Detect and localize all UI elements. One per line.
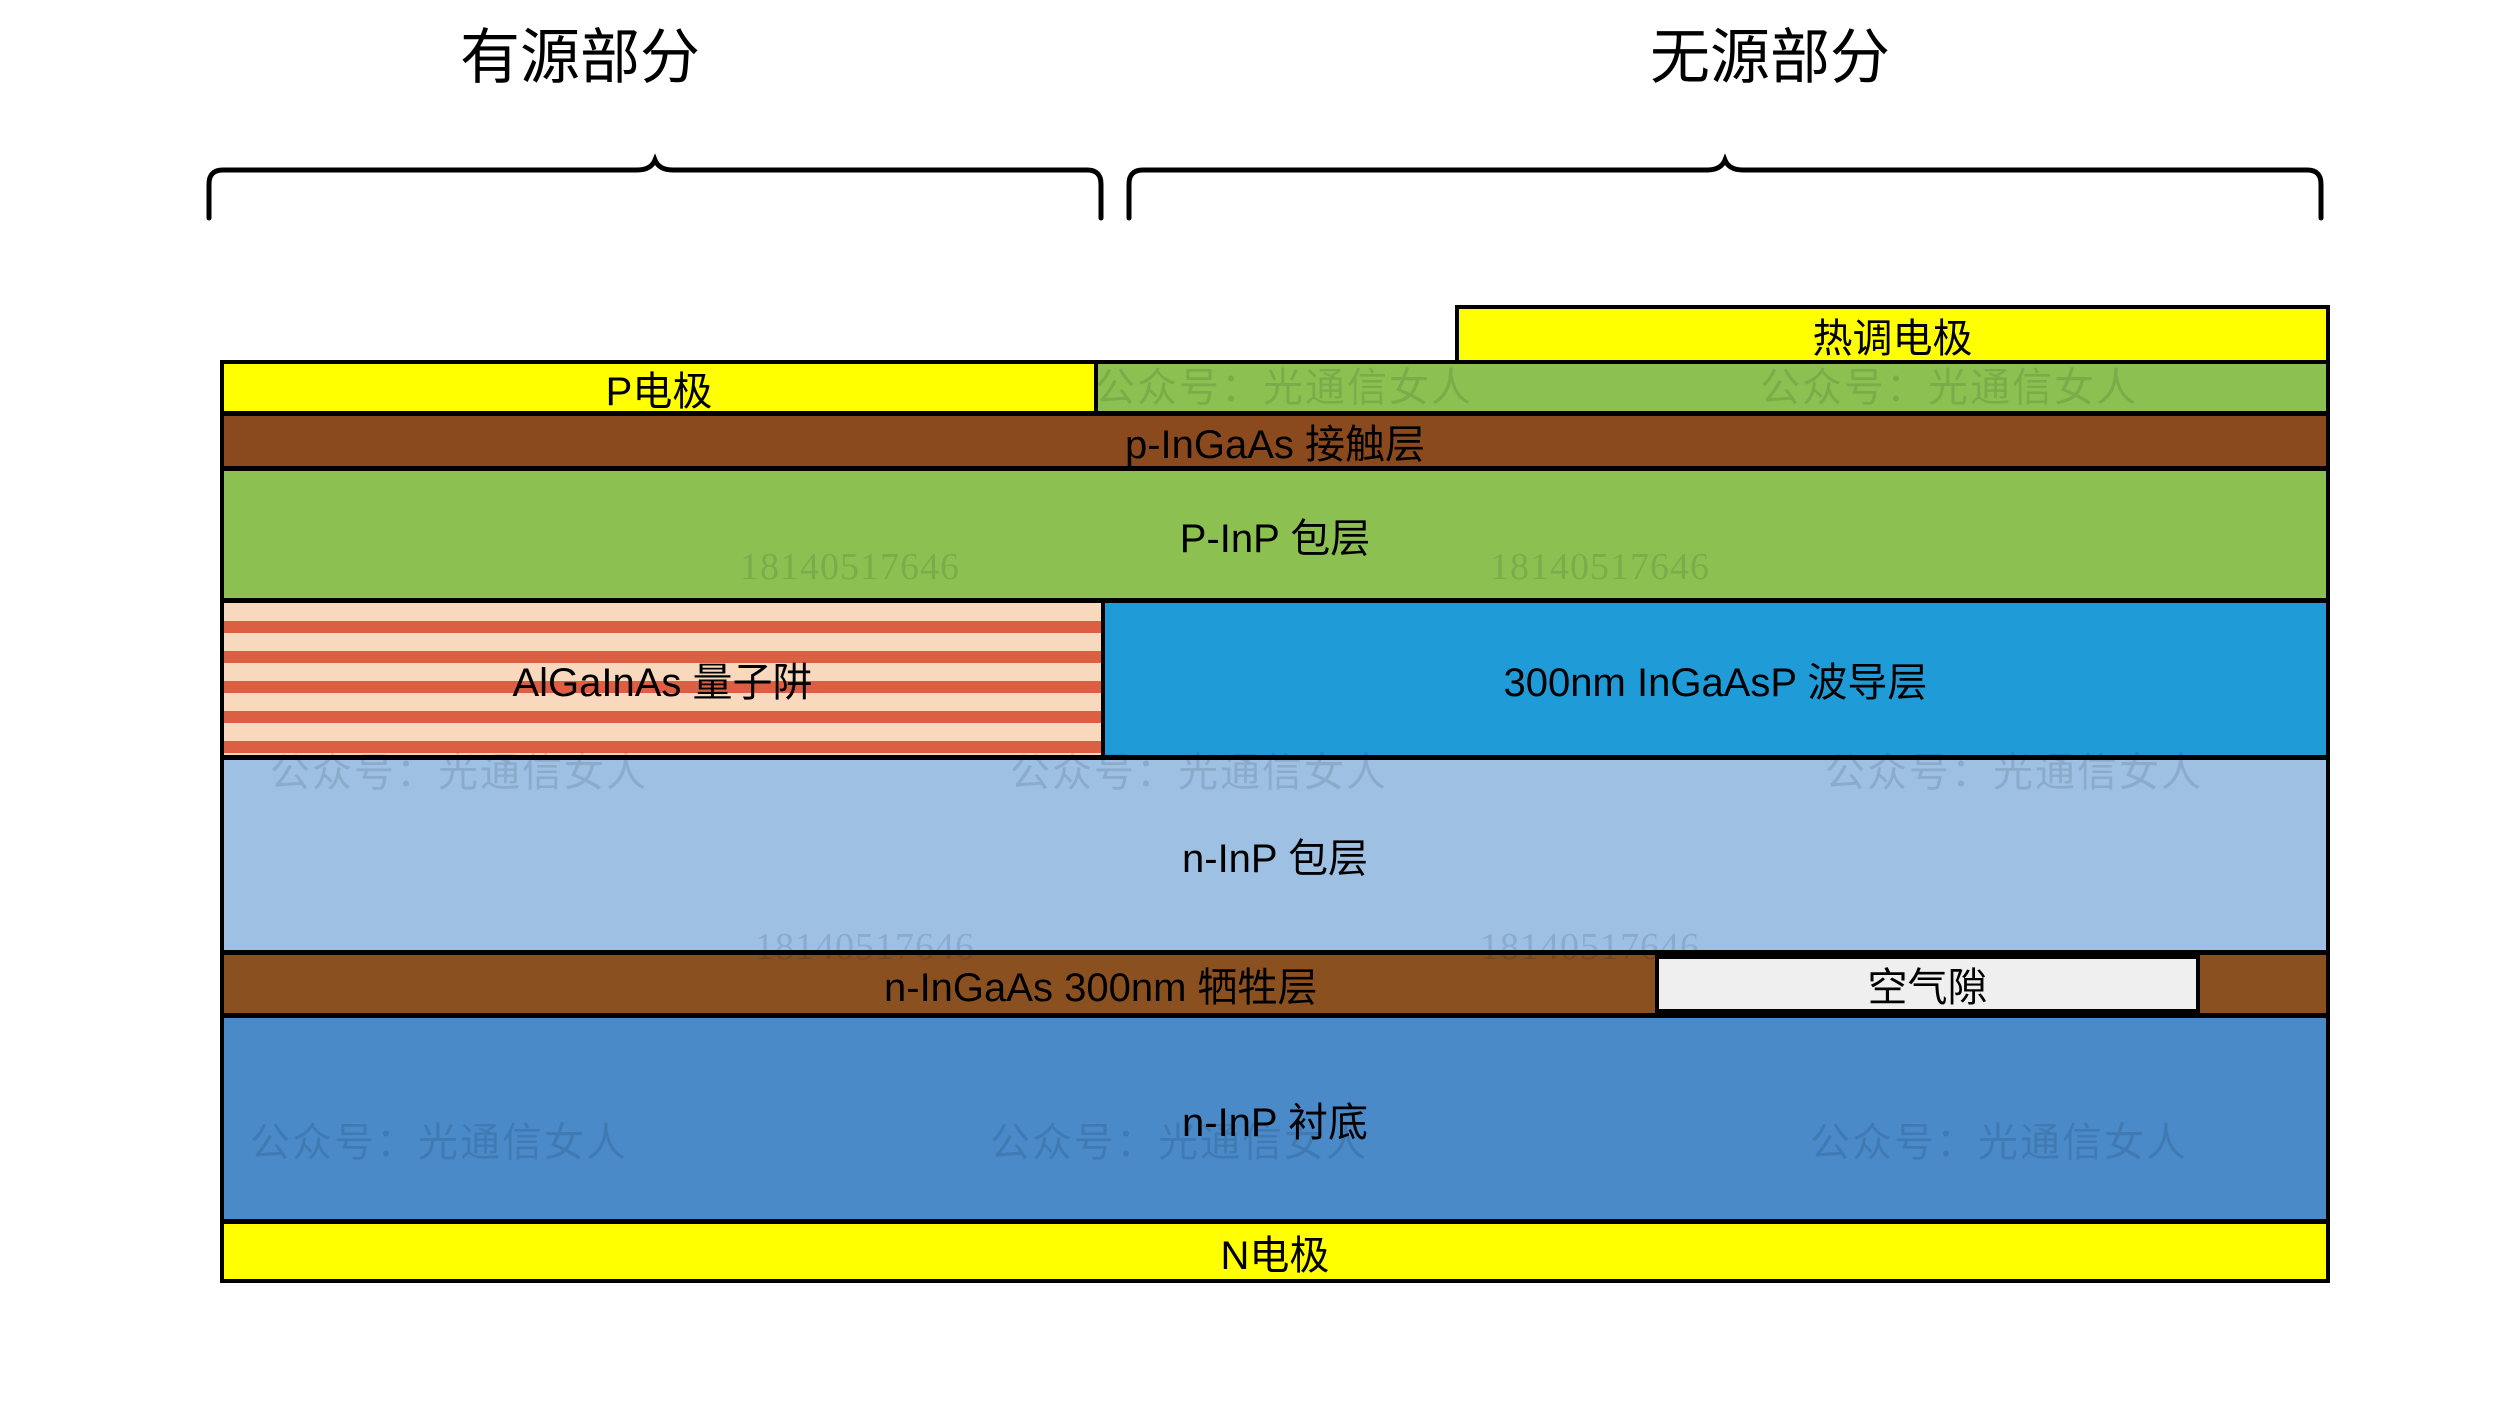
layer-label-air-gap: 空气隙 (1868, 955, 1988, 1013)
layer-label-p-cladding: P-InP 包层 (1180, 506, 1370, 564)
layer-waveguide: 300nm InGaAsP 波导层 (1101, 599, 2330, 759)
layer-contact: p-InGaAs 接触层 (220, 412, 2330, 470)
layer-label-p-electrode: P电极 (606, 359, 713, 417)
layer-label-n-electrode: N电极 (1221, 1223, 1330, 1281)
layer-label-heater-electrode: 热调电极 (1813, 306, 1973, 364)
device-stack: 热调电极 P电极 p-InGaAs 接触层 P-InP 包层 AlGaInAs … (0, 0, 2500, 1406)
layer-quantum-well: AlGaInAs 量子阱 (220, 599, 1105, 759)
layer-label-contact: p-InGaAs 接触层 (1125, 412, 1425, 470)
layer-p-cladding: P-InP 包层 (220, 467, 2330, 602)
layer-p-electrode[interactable]: P电极 (220, 360, 1098, 415)
layer-n-electrode[interactable]: N电极 (220, 1220, 2330, 1283)
layer-substrate: n-InP 衬底 (220, 1014, 2330, 1223)
layer-label-n-cladding: n-InP 包层 (1182, 826, 1368, 884)
layer-label-substrate: n-InP 衬底 (1182, 1090, 1368, 1148)
layer-air-gap: 空气隙 (1655, 955, 2200, 1013)
diagram-canvas: 有源部分 无源部分 热调电极 P电极 p-InGaAs 接触层 P-InP 包层 (0, 0, 2500, 1406)
layer-heater-electrode[interactable]: 热调电极 (1455, 305, 2330, 365)
layer-label-waveguide: 300nm InGaAsP 波导层 (1504, 650, 1928, 708)
layer-label-sacrificial: n-InGaAs 300nm 牺牲层 (884, 955, 1318, 1013)
layer-label-quantum-well: AlGaInAs 量子阱 (512, 650, 812, 708)
layer-n-cladding: n-InP 包层 (220, 756, 2330, 954)
